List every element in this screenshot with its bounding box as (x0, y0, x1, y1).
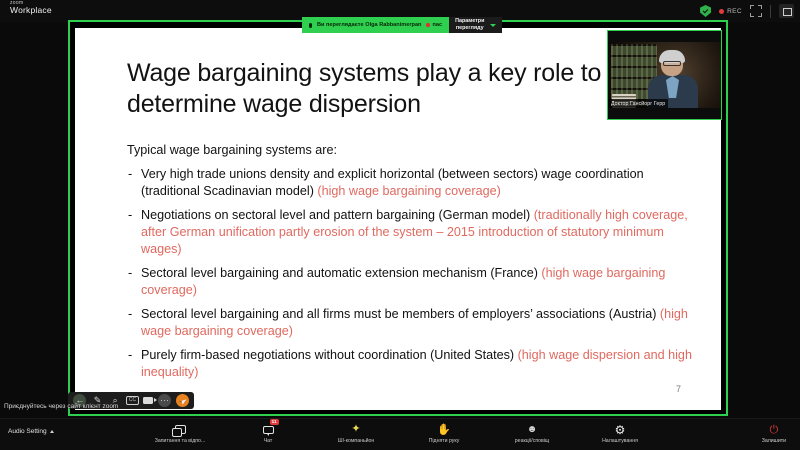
video-camera-icon[interactable] (143, 397, 153, 404)
closed-caption-icon[interactable]: CC (126, 396, 138, 405)
bullet-text-black: Negotiations on sectoral level and patte… (141, 208, 534, 222)
video-letterbox-bottom (608, 108, 721, 119)
viewing-banner: Ви переглядаєте Olga Rabbanimerpan пас П… (302, 17, 502, 33)
zoom-meeting-window: zoom Workplace REC Ви переглядаєте Olga … (0, 0, 800, 450)
bullet-dash: - (128, 265, 132, 282)
chevron-down-icon[interactable] (490, 24, 496, 27)
slide-page-number: 7 (676, 384, 681, 394)
recording-label: REC (727, 8, 742, 15)
settings-gear-icon: ⚙ (615, 423, 626, 436)
chat-icon: 11 (263, 423, 274, 436)
leave-meeting-button[interactable]: ⏻ Залишити (762, 424, 786, 444)
ai-companion-button[interactable]: ✦ ШІ-компаньйон (328, 423, 384, 444)
view-mode-icon[interactable] (750, 5, 762, 17)
chat-unread-badge: 11 (270, 419, 279, 425)
divider (770, 5, 771, 18)
chat-label: Чат (264, 438, 273, 444)
leave-meeting-icon: ⏻ (770, 424, 779, 436)
more-options-icon[interactable] (158, 394, 171, 407)
view-options-button[interactable]: Параметри перегляду (449, 17, 502, 33)
reactions-icon: ☻ (527, 423, 538, 436)
chat-button[interactable]: 11 Чат (240, 423, 296, 444)
join-via-client-hint[interactable]: Приєднуйтесь через сайт клієнт zoom (4, 403, 118, 410)
settings-button[interactable]: ⚙ Налаштування (592, 423, 648, 444)
watching-notice[interactable]: Ви переглядаєте Olga Rabbanimerpan пас (302, 17, 449, 33)
list-item: -Negotiations on sectoral level and patt… (127, 207, 697, 258)
raise-hand-icon: ✋ (437, 423, 451, 436)
timer-dot-icon (426, 23, 430, 27)
bullet-text-black: Sectoral level bargaining and all firms … (141, 307, 660, 321)
reactions-button[interactable]: ☻ реакції/сповіщ (504, 423, 560, 444)
center-tool-group: Запитання та відпо... 11 Чат ✦ ШІ-компан… (0, 423, 800, 444)
recording-indicator[interactable]: REC (719, 8, 742, 15)
video-drag-handle[interactable] (607, 73, 608, 77)
participant-video-thumbnail[interactable]: Доктор Гансйорг Герр (607, 30, 722, 120)
qa-button[interactable]: Запитання та відпо... (152, 423, 208, 444)
reactions-label: реакції/сповіщ (515, 438, 549, 444)
list-item: -Purely firm-based negotiations without … (127, 347, 697, 381)
view-options-label-line1: Параметри (455, 18, 484, 24)
view-options-label-line2: перегляду (456, 25, 484, 31)
slide-intro-line: Typical wage bargaining systems are: (127, 142, 697, 159)
raise-hand-button[interactable]: ✋ Підняти руку (416, 423, 472, 444)
qa-icon (175, 423, 186, 436)
settings-label: Налаштування (602, 438, 638, 444)
timer-text: пас (432, 22, 442, 28)
list-item: -Very high trade unions density and expl… (127, 166, 697, 200)
bullet-dash: - (128, 207, 132, 224)
leave-meeting-label: Залишити (762, 438, 786, 444)
slide-body: Typical wage bargaining systems are: -Ve… (127, 142, 697, 388)
ai-companion-icon: ✦ (351, 423, 360, 436)
list-item: -Sectoral level bargaining and all firms… (127, 306, 697, 340)
zoom-workplace-logo: zoom Workplace (10, 1, 52, 15)
mic-icon (309, 23, 312, 28)
qa-label: Запитання та відпо... (155, 438, 206, 444)
meeting-controls-bar: Audio Setting Запитання та відпо... 11 Ч… (0, 418, 800, 450)
bullet-text-black: Purely firm-based negotiations without c… (141, 348, 518, 362)
participant-name-badge: Доктор Гансйорг Герр (608, 99, 668, 108)
person-glasses (663, 61, 681, 66)
top-bar-right-controls: REC (700, 4, 794, 18)
minimize-restore-icon[interactable] (779, 4, 794, 18)
list-item: -Sectoral level bargaining and automatic… (127, 265, 697, 299)
bullet-dash: - (128, 306, 132, 323)
bullet-dash: - (128, 166, 132, 183)
ai-companion-label: ШІ-компаньйон (338, 438, 375, 444)
bullet-text-red: (high wage bargaining coverage) (317, 184, 500, 198)
raise-hand-label: Підняти руку (429, 438, 460, 444)
record-dot-icon (719, 9, 724, 14)
watching-text: Ви переглядаєте Olga Rabbanimerpan (317, 22, 421, 28)
banner-timer: пас (426, 22, 442, 28)
slide-title: Wage bargaining systems play a key role … (127, 58, 647, 119)
brand-workplace: Workplace (10, 6, 52, 15)
bullet-dash: - (128, 347, 132, 364)
video-letterbox-top (608, 31, 721, 42)
slide-bullet-list: -Very high trade unions density and expl… (127, 166, 697, 381)
bullet-text-black: Sectoral level bargaining and automatic … (141, 266, 541, 280)
shield-check-icon[interactable] (700, 5, 711, 17)
